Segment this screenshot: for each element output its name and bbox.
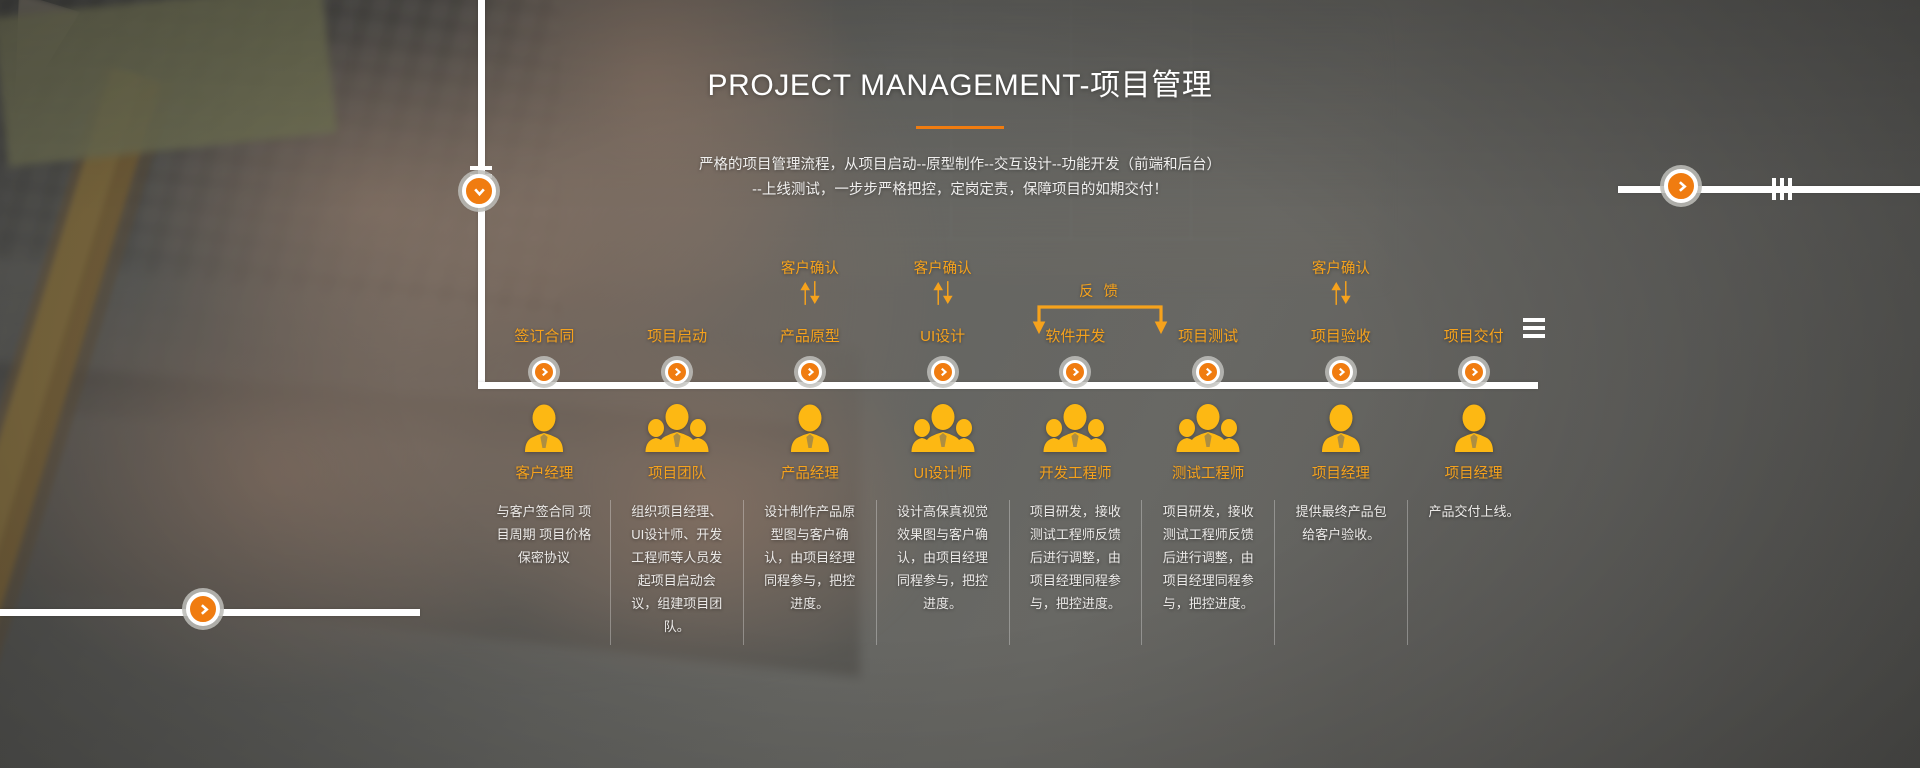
single-person-icon xyxy=(1275,394,1408,454)
step-annotation xyxy=(611,260,744,328)
timeline-step: 项目交付项目经理 xyxy=(1407,260,1540,483)
step-node-chevron-right-icon[interactable] xyxy=(1196,360,1220,384)
annotation-label: 客户确认 xyxy=(744,260,877,278)
step-detail-column: 提供最终产品包给客户验收。 xyxy=(1275,500,1408,645)
up-down-arrows-icon xyxy=(744,281,877,305)
up-down-arrows-icon xyxy=(1275,281,1408,305)
step-name: 项目测试 xyxy=(1142,328,1275,346)
up-down-arrows-icon xyxy=(876,281,1009,305)
group-people-icon xyxy=(611,394,744,454)
step-detail-text: 设计高保真视觉效果图与客户确认，由项目经理同程参与，把控进度。 xyxy=(893,500,993,615)
project-management-banner: PROJECT MANAGEMENT-项目管理 严格的项目管理流程，从项目启动-… xyxy=(0,0,1920,768)
step-node-row xyxy=(876,346,1009,394)
feedback-label: 反 馈 xyxy=(1032,280,1168,301)
step-node-row xyxy=(611,346,744,394)
timeline-step: 签订合同客户经理 xyxy=(478,260,611,483)
single-person-icon xyxy=(478,394,611,454)
step-node-row xyxy=(744,346,877,394)
step-role-name: 产品经理 xyxy=(744,462,877,483)
subtitle-block: 严格的项目管理流程，从项目启动--原型制作--交互设计--功能开发（前端和后台）… xyxy=(0,153,1920,203)
group-people-icon xyxy=(1142,394,1275,454)
step-name: 项目验收 xyxy=(1275,328,1408,346)
step-node-chevron-right-icon[interactable] xyxy=(1063,360,1087,384)
step-detail-text: 设计制作产品原型图与客户确认，由项目经理同程参与，把控进度。 xyxy=(760,500,860,615)
step-detail-text: 产品交付上线。 xyxy=(1424,500,1524,523)
timeline-step: 项目启动项目团队 xyxy=(611,260,744,483)
step-detail-column: 与客户签合同 项目周期 项目价格 保密协议 xyxy=(478,500,611,645)
annotation-label: 客户确认 xyxy=(876,260,1009,278)
step-annotation: 客户确认 xyxy=(744,260,877,328)
timeline-step: 客户确认产品原型产品经理 xyxy=(744,260,877,483)
step-role-name: 项目团队 xyxy=(611,462,744,483)
step-node-chevron-right-icon[interactable] xyxy=(532,360,556,384)
step-annotation xyxy=(1407,260,1540,328)
step-node-row xyxy=(478,346,611,394)
step-role-name: 项目经理 xyxy=(1275,462,1408,483)
step-detail-text: 项目研发，接收测试工程师反馈后进行调整，由项目经理同程参与，把控进度。 xyxy=(1026,500,1126,615)
subtitle-line-2: --上线测试，一步步严格把控，定岗定责，保障项目的如期交付！ xyxy=(0,178,1920,203)
step-name: 项目交付 xyxy=(1407,328,1540,346)
step-name: 项目启动 xyxy=(611,328,744,346)
step-node-row xyxy=(1142,346,1275,394)
step-role-name: 客户经理 xyxy=(478,462,611,483)
group-people-icon xyxy=(1009,394,1142,454)
step-detail-column: 产品交付上线。 xyxy=(1408,500,1540,645)
step-annotation xyxy=(478,260,611,328)
annotation-label: 客户确认 xyxy=(1275,260,1408,278)
step-detail-column: 设计高保真视觉效果图与客户确认，由项目经理同程参与，把控进度。 xyxy=(877,500,1010,645)
step-name: 产品原型 xyxy=(744,328,877,346)
step-node-chevron-right-icon[interactable] xyxy=(931,360,955,384)
step-detail-text: 项目研发，接收测试工程师反馈后进行调整，由项目经理同程参与，把控进度。 xyxy=(1158,500,1258,615)
step-name: 软件开发 xyxy=(1009,328,1142,346)
step-name: 签订合同 xyxy=(478,328,611,346)
single-person-icon xyxy=(744,394,877,454)
step-node-row xyxy=(1275,346,1408,394)
step-node-row xyxy=(1009,346,1142,394)
page-title: PROJECT MANAGEMENT-项目管理 xyxy=(0,60,1920,104)
timeline-step: 客户确认UI设计UI设计师 xyxy=(876,260,1009,483)
step-annotation: 客户确认 xyxy=(1275,260,1408,328)
step-role-name: 项目经理 xyxy=(1407,462,1540,483)
title-underline xyxy=(916,126,1004,129)
step-detail-column: 项目研发，接收测试工程师反馈后进行调整，由项目经理同程参与，把控进度。 xyxy=(1142,500,1275,645)
step-node-chevron-right-icon[interactable] xyxy=(798,360,822,384)
step-node-row xyxy=(1407,346,1540,394)
group-people-icon xyxy=(876,394,1009,454)
step-details-row: 与客户签合同 项目周期 项目价格 保密协议组织项目经理、UI设计师、开发工程师等… xyxy=(478,500,1540,645)
step-detail-column: 项目研发，接收测试工程师反馈后进行调整，由项目经理同程参与，把控进度。 xyxy=(1010,500,1143,645)
step-role-name: 开发工程师 xyxy=(1009,462,1142,483)
chevron-right-icon-left[interactable] xyxy=(186,592,220,626)
process-timeline: 签订合同客户经理项目启动项目团队客户确认产品原型产品经理客户确认UI设计UI设计… xyxy=(478,260,1540,483)
step-node-chevron-right-icon[interactable] xyxy=(1329,360,1353,384)
step-detail-column: 设计制作产品原型图与客户确认，由项目经理同程参与，把控进度。 xyxy=(744,500,877,645)
step-node-chevron-right-icon[interactable] xyxy=(1462,360,1486,384)
step-annotation: 客户确认 xyxy=(876,260,1009,328)
step-detail-column: 组织项目经理、UI设计师、开发工程师等人员发起项目启动会议，组建项目团队。 xyxy=(611,500,744,645)
step-role-name: UI设计师 xyxy=(876,462,1009,483)
banner-header: PROJECT MANAGEMENT-项目管理 严格的项目管理流程，从项目启动-… xyxy=(0,60,1920,203)
step-detail-text: 与客户签合同 项目周期 项目价格 保密协议 xyxy=(494,500,594,569)
step-role-name: 测试工程师 xyxy=(1142,462,1275,483)
timeline-step: 客户确认项目验收项目经理 xyxy=(1275,260,1408,483)
subtitle-line-1: 严格的项目管理流程，从项目启动--原型制作--交互设计--功能开发（前端和后台） xyxy=(0,153,1920,178)
step-detail-text: 提供最终产品包给客户验收。 xyxy=(1291,500,1391,546)
step-detail-text: 组织项目经理、UI设计师、开发工程师等人员发起项目启动会议，组建项目团队。 xyxy=(627,500,727,638)
step-node-chevron-right-icon[interactable] xyxy=(665,360,689,384)
single-person-icon xyxy=(1407,394,1540,454)
step-name: UI设计 xyxy=(876,328,1009,346)
